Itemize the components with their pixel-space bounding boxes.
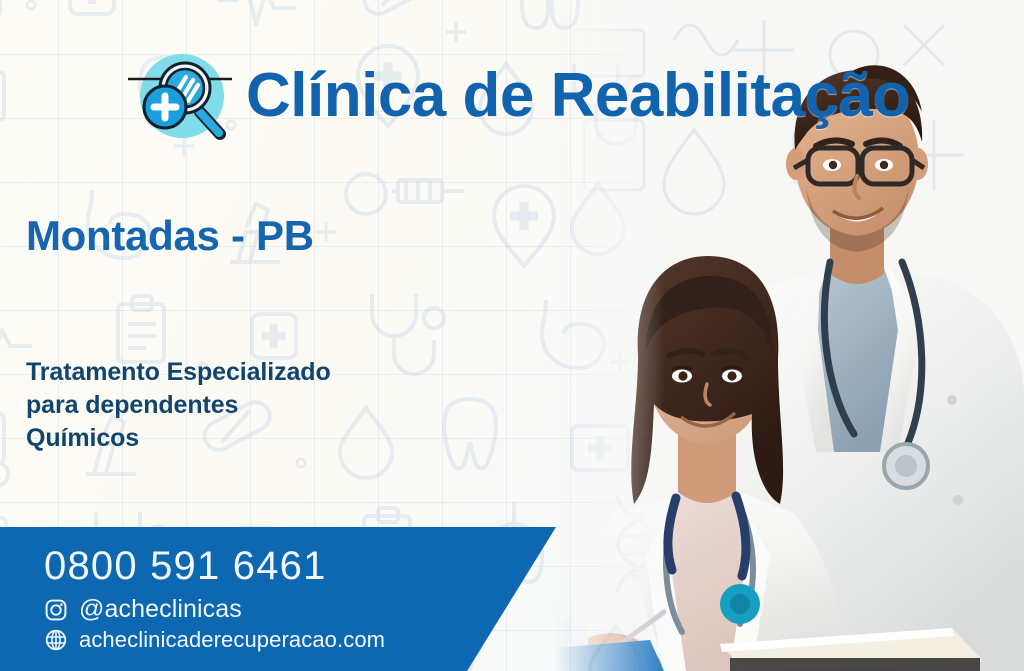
clinic-banner: Clínica de Reabilitação Montadas - PB Tr… (0, 0, 1024, 671)
service-description: Tratamento Especializado para dependente… (26, 356, 331, 455)
contact-footer-content: 0800 591 6461 @acheclinicas (44, 543, 385, 653)
magnifier-plus-icon (128, 44, 232, 148)
description-line-2: para dependentes (26, 389, 331, 422)
website-contact-row[interactable]: acheclinicaderecuperacao.com (44, 627, 385, 653)
header: Clínica de Reabilitação (128, 44, 910, 148)
website-url: acheclinicaderecuperacao.com (79, 627, 385, 653)
page-title: Clínica de Reabilitação (246, 65, 910, 127)
phone-number[interactable]: 0800 591 6461 (44, 543, 385, 589)
instagram-handle: @acheclinicas (79, 595, 242, 624)
description-line-3: Químicos (26, 422, 331, 455)
contact-footer-band: 0800 591 6461 @acheclinicas (0, 527, 556, 671)
description-line-1: Tratamento Especializado (26, 356, 331, 389)
location-city-state: Montadas - PB (26, 212, 314, 260)
instagram-icon (44, 598, 68, 622)
globe-icon (44, 628, 68, 652)
instagram-contact-row[interactable]: @acheclinicas (44, 595, 385, 624)
